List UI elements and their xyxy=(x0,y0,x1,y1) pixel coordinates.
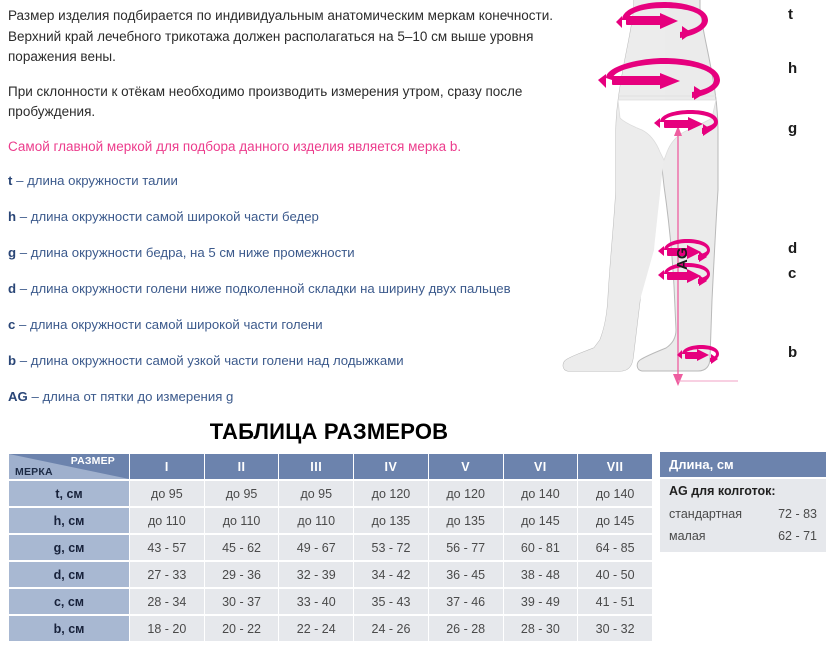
legend-key-g: g xyxy=(8,245,16,260)
legend-item-ag: AG – длина от пятки до измерения g xyxy=(8,389,564,405)
legend-text-b: длина окружности самой узкой части голен… xyxy=(31,353,404,368)
row-label-g: g, см xyxy=(9,535,129,560)
legend-text-ag: длина от пятки до измерения g xyxy=(42,389,233,404)
cell-c-2: 30 - 37 xyxy=(205,589,279,614)
size-header-3: III xyxy=(279,454,353,479)
table-row: h, см до 110 до 110 до 110 до 135 до 135… xyxy=(9,508,652,533)
legend-dash-g: – xyxy=(20,245,27,260)
size-table: МЕРКА РАЗМЕР I II III IV V VI VII t, см … xyxy=(8,452,653,643)
figure-label-c: c xyxy=(788,266,796,281)
legend-dash-d: – xyxy=(20,281,27,296)
cell-t-2: до 95 xyxy=(205,481,279,506)
table-row: g, см 43 - 57 45 - 62 49 - 67 53 - 72 56… xyxy=(9,535,652,560)
row-label-c: c, см xyxy=(9,589,129,614)
cell-g-1: 43 - 57 xyxy=(130,535,204,560)
cell-c-6: 39 - 49 xyxy=(504,589,578,614)
length-panel-body: AG для колготок: стандартная 72 - 83 мал… xyxy=(660,479,826,552)
legend-item-g: g – длина окружности бедра, на 5 см ниже… xyxy=(8,245,564,261)
cell-b-5: 26 - 28 xyxy=(429,616,503,641)
figure-label-g: g xyxy=(788,121,797,136)
length-row-small-label: малая xyxy=(669,529,706,543)
cell-b-3: 22 - 24 xyxy=(279,616,353,641)
length-row-small-value: 62 - 71 xyxy=(778,529,817,543)
legend-text-c: длина окружности самой широкой части гол… xyxy=(30,317,323,332)
cell-d-6: 38 - 48 xyxy=(504,562,578,587)
row-label-h: h, см xyxy=(9,508,129,533)
row-label-d: d, см xyxy=(9,562,129,587)
page-title: ТАБЛИЦА РАЗМЕРОВ xyxy=(0,419,658,445)
size-table-header-row: МЕРКА РАЗМЕР I II III IV V VI VII xyxy=(9,454,652,479)
cell-d-2: 29 - 36 xyxy=(205,562,279,587)
cell-b-4: 24 - 26 xyxy=(354,616,428,641)
legend-item-d: d – длина окружности голени ниже подколе… xyxy=(8,281,564,297)
description-text-column: Размер изделия подбирается по индивидуал… xyxy=(8,6,564,425)
legend-dash-t: – xyxy=(16,173,23,188)
cell-t-7: до 140 xyxy=(578,481,652,506)
length-row-small: малая 62 - 71 xyxy=(669,529,817,543)
legend-dash-c: – xyxy=(19,317,26,332)
intro-paragraph-1: Размер изделия подбирается по индивидуал… xyxy=(8,6,564,68)
size-header-5: V xyxy=(429,454,503,479)
figure-label-b: b xyxy=(788,345,797,360)
cell-h-7: до 145 xyxy=(578,508,652,533)
corner-label-mera: МЕРКА xyxy=(15,466,53,478)
cell-d-4: 34 - 42 xyxy=(354,562,428,587)
table-row: t, см до 95 до 95 до 95 до 120 до 120 до… xyxy=(9,481,652,506)
cell-c-7: 41 - 51 xyxy=(578,589,652,614)
legend-key-ag: AG xyxy=(8,389,28,404)
ag-label: AG xyxy=(674,248,691,271)
legend-key-t: t xyxy=(8,173,12,188)
length-row-standard-label: стандартная xyxy=(669,507,742,521)
legend-item-b: b – длина окружности самой узкой части г… xyxy=(8,353,564,369)
legend-key-c: c xyxy=(8,317,15,332)
legend-dash-ag: – xyxy=(31,389,38,404)
figure-label-t: t xyxy=(788,7,793,22)
legend-text-t: длина окружности талии xyxy=(27,173,178,188)
row-label-t: t, см xyxy=(9,481,129,506)
size-header-6: VI xyxy=(504,454,578,479)
cell-t-5: до 120 xyxy=(429,481,503,506)
cell-b-6: 28 - 30 xyxy=(504,616,578,641)
legend-text-h: длина окружности самой широкой части бед… xyxy=(31,209,319,224)
row-label-b: b, см xyxy=(9,616,129,641)
cell-h-5: до 135 xyxy=(429,508,503,533)
cell-g-5: 56 - 77 xyxy=(429,535,503,560)
cell-d-1: 27 - 33 xyxy=(130,562,204,587)
cell-g-4: 53 - 72 xyxy=(354,535,428,560)
cell-c-1: 28 - 34 xyxy=(130,589,204,614)
cell-b-7: 30 - 32 xyxy=(578,616,652,641)
legend-item-c: c – длина окружности самой широкой части… xyxy=(8,317,564,333)
cell-h-6: до 145 xyxy=(504,508,578,533)
cell-h-2: до 110 xyxy=(205,508,279,533)
cell-g-7: 64 - 85 xyxy=(578,535,652,560)
size-header-2: II xyxy=(205,454,279,479)
length-panel-header: Длина, см xyxy=(660,452,826,477)
cell-b-2: 20 - 22 xyxy=(205,616,279,641)
cell-g-3: 49 - 67 xyxy=(279,535,353,560)
cell-t-1: до 95 xyxy=(130,481,204,506)
legend-dash-b: – xyxy=(20,353,27,368)
cell-b-1: 18 - 20 xyxy=(130,616,204,641)
measurement-legend-list: t – длина окружности талии h – длина окр… xyxy=(8,173,564,405)
intro-paragraph-2: При склонности к отёкам необходимо произ… xyxy=(8,82,564,123)
anatomical-measurement-diagram: AG t h g d c b xyxy=(560,0,832,412)
cell-t-4: до 120 xyxy=(354,481,428,506)
size-table-head: МЕРКА РАЗМЕР I II III IV V VI VII xyxy=(9,454,652,479)
figure-label-d: d xyxy=(788,241,797,256)
cell-h-1: до 110 xyxy=(130,508,204,533)
size-table-body: t, см до 95 до 95 до 95 до 120 до 120 до… xyxy=(9,481,652,641)
cell-c-3: 33 - 40 xyxy=(279,589,353,614)
legend-item-h: h – длина окружности самой широкой части… xyxy=(8,209,564,225)
figure-label-h: h xyxy=(788,61,797,76)
cell-g-6: 60 - 81 xyxy=(504,535,578,560)
highlight-note: Самой главной меркой для подбора данного… xyxy=(8,137,564,157)
legend-text-d: длина окружности голени ниже подколенной… xyxy=(31,281,511,296)
cell-d-5: 36 - 45 xyxy=(429,562,503,587)
size-header-7: VII xyxy=(578,454,652,479)
cell-c-4: 35 - 43 xyxy=(354,589,428,614)
length-panel-title: AG для колготок: xyxy=(669,484,817,498)
legend-key-d: d xyxy=(8,281,16,296)
size-header-1: I xyxy=(130,454,204,479)
legend-text-g: длина окружности бедра, на 5 см ниже про… xyxy=(31,245,355,260)
table-row: b, см 18 - 20 20 - 22 22 - 24 24 - 26 26… xyxy=(9,616,652,641)
cell-t-6: до 140 xyxy=(504,481,578,506)
table-row: c, см 28 - 34 30 - 37 33 - 40 35 - 43 37… xyxy=(9,589,652,614)
legend-key-h: h xyxy=(8,209,16,224)
legend-key-b: b xyxy=(8,353,16,368)
cell-d-3: 32 - 39 xyxy=(279,562,353,587)
cell-d-7: 40 - 50 xyxy=(578,562,652,587)
cell-c-5: 37 - 46 xyxy=(429,589,503,614)
table-corner-cell: МЕРКА РАЗМЕР xyxy=(9,454,129,479)
cell-t-3: до 95 xyxy=(279,481,353,506)
table-row: d, см 27 - 33 29 - 36 32 - 39 34 - 42 36… xyxy=(9,562,652,587)
legend-item-t: t – длина окружности талии xyxy=(8,173,564,189)
size-header-4: IV xyxy=(354,454,428,479)
cell-h-3: до 110 xyxy=(279,508,353,533)
cell-h-4: до 135 xyxy=(354,508,428,533)
corner-label-razmer: РАЗМЕР xyxy=(71,455,115,467)
length-row-standard-value: 72 - 83 xyxy=(778,507,817,521)
legend-dash-h: – xyxy=(20,209,27,224)
cell-g-2: 45 - 62 xyxy=(205,535,279,560)
body-silhouette xyxy=(563,0,718,371)
length-panel: Длина, см AG для колготок: стандартная 7… xyxy=(660,452,826,552)
length-row-standard: стандартная 72 - 83 xyxy=(669,507,817,521)
